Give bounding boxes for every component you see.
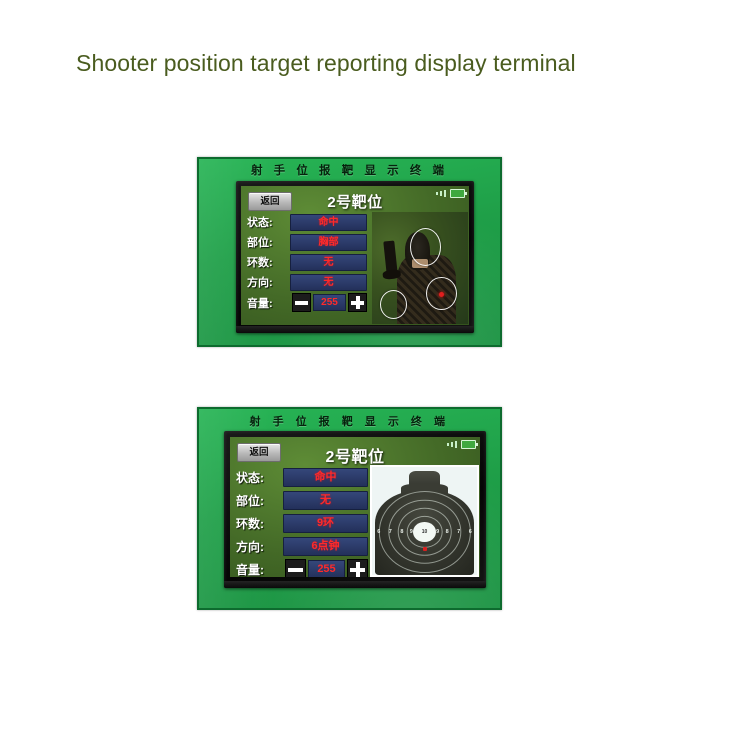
info-row-direction: 方向: 6点钟: [236, 536, 368, 556]
target-person-photo: [372, 212, 468, 324]
label-direction: 方向:: [247, 274, 290, 290]
hit-marker: [439, 292, 444, 297]
hit-ring-head: [410, 228, 441, 266]
plus-icon: [356, 296, 360, 309]
minus-icon: [295, 301, 308, 305]
info-row-rings: 环数: 9环: [236, 513, 368, 533]
device-terminal-1: 射 手 位 报 靶 显 示 终 端 返回 2号靶位 状态: 命中 部位: 胸部: [197, 157, 502, 347]
plus-icon: [356, 562, 360, 577]
bezel-chin-2: [224, 581, 486, 588]
volume-value: 255: [313, 294, 346, 311]
device-terminal-2: 射 手 位 报 靶 显 示 终 端 返回 2号靶位 状态: 命中 部位: 无: [197, 407, 502, 610]
label-bodypart: 部位:: [236, 492, 283, 509]
ring-number-left-7: 7: [389, 529, 392, 535]
info-row-bodypart: 部位: 胸部: [247, 233, 367, 251]
label-volume: 音量:: [247, 295, 290, 311]
label-volume: 音量:: [236, 561, 283, 577]
minus-icon: [288, 568, 303, 572]
bezel-chin-1: [236, 326, 474, 333]
label-rings: 环数:: [236, 515, 283, 532]
volume-row-1: 音量: 255: [247, 293, 367, 312]
value-direction: 无: [290, 274, 367, 291]
hit-ring-lower: [380, 290, 407, 319]
info-row-status: 状态: 命中: [247, 213, 367, 231]
value-bodypart: 无: [283, 491, 368, 510]
page-title: Shooter position target reporting displa…: [76, 50, 576, 77]
board-silkscreen-title-1: 射 手 位 报 靶 显 示 终 端: [199, 162, 500, 178]
ring-number-left-8: 8: [400, 529, 403, 535]
ring-number-right-8: 8: [446, 529, 449, 535]
value-status: 命中: [283, 468, 368, 487]
lcd-bezel-2: 返回 2号靶位 状态: 命中 部位: 无 环数: 9环 方向: 6点钟: [224, 431, 486, 588]
label-direction: 方向:: [236, 538, 283, 555]
ring-number-right-9: 9: [436, 529, 439, 535]
label-bodypart: 部位:: [247, 234, 290, 250]
hit-ring-chest: [426, 277, 457, 310]
label-status: 状态:: [236, 469, 283, 486]
volume-minus-button[interactable]: [285, 559, 306, 577]
silhouette-target-image: 6 7 8 9 9 8 7 6 10: [370, 465, 479, 577]
screen-title-1: 2号靶位: [241, 191, 469, 212]
value-status: 命中: [290, 214, 367, 231]
ring-number-left-6: 6: [377, 529, 380, 535]
ring-number-right-6: 6: [469, 529, 472, 535]
info-row-rings: 环数: 无: [247, 253, 367, 271]
info-panel-2: 状态: 命中 部位: 无 环数: 9环 方向: 6点钟 音量:: [236, 467, 368, 577]
volume-plus-button[interactable]: [347, 559, 368, 577]
lcd-screen-2: 返回 2号靶位 状态: 命中 部位: 无 环数: 9环 方向: 6点钟: [230, 437, 480, 577]
value-rings: 9环: [283, 514, 368, 533]
volume-value: 255: [308, 560, 345, 577]
value-bodypart: 胸部: [290, 234, 367, 251]
lcd-screen-1: 返回 2号靶位 状态: 命中 部位: 胸部 环数: 无 方向: 无: [241, 186, 469, 325]
info-panel-1: 状态: 命中 部位: 胸部 环数: 无 方向: 无 音量:: [247, 213, 367, 312]
value-rings: 无: [290, 254, 367, 271]
target-background: 6 7 8 9 9 8 7 6 10: [372, 467, 477, 575]
value-direction: 6点钟: [283, 537, 368, 556]
volume-minus-button[interactable]: [292, 293, 311, 312]
volume-row-2: 音量: 255: [236, 559, 368, 577]
info-row-status: 状态: 命中: [236, 467, 368, 487]
label-rings: 环数:: [247, 254, 290, 270]
lcd-bezel-1: 返回 2号靶位 状态: 命中 部位: 胸部 环数: 无 方向: 无: [236, 181, 474, 333]
ring-number-right-7: 7: [457, 529, 460, 535]
screen-title-2: 2号靶位: [230, 443, 480, 467]
info-row-bodypart: 部位: 无: [236, 490, 368, 510]
hit-marker: [423, 547, 427, 551]
label-status: 状态:: [247, 214, 290, 230]
board-silkscreen-title-2: 射 手 位 报 靶 显 示 终 端: [199, 413, 500, 429]
info-row-direction: 方向: 无: [247, 273, 367, 291]
volume-plus-button[interactable]: [348, 293, 367, 312]
